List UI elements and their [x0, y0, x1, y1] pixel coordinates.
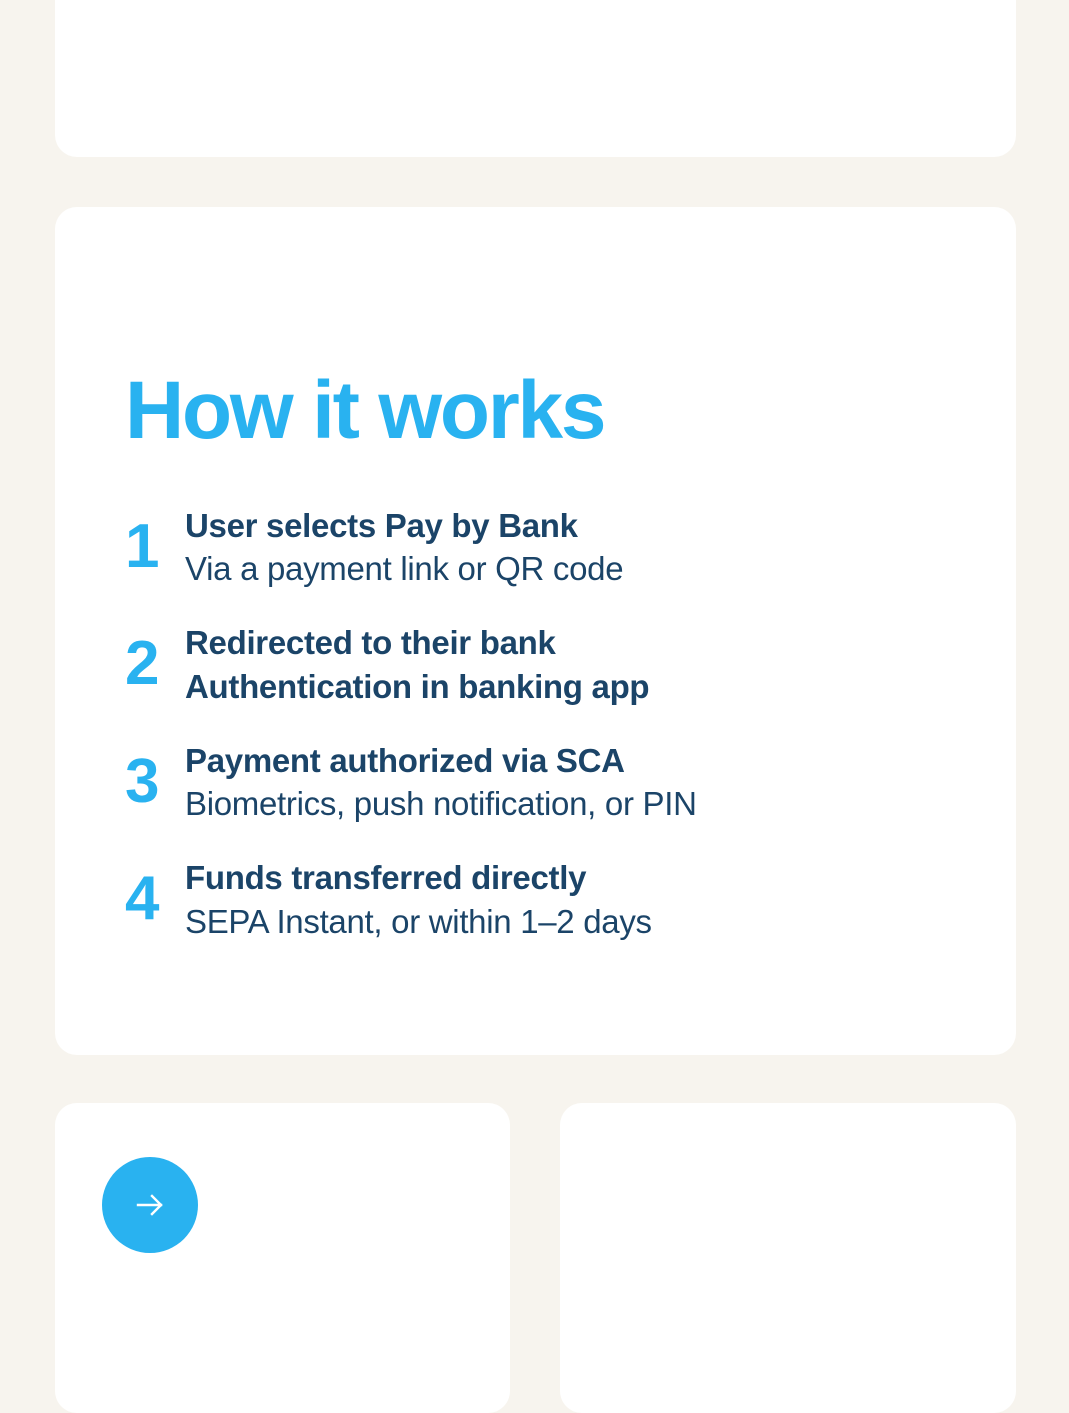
page-stage: How it works 1 User selects Pay by Bank …	[0, 0, 1069, 1350]
card-bottom-right	[560, 1103, 1016, 1413]
list-item: 3 Payment authorized via SCA Biometrics,…	[125, 737, 976, 827]
step-number: 4	[125, 854, 185, 930]
arrow-right-icon	[128, 1183, 172, 1227]
step-title: Funds transferred directly	[185, 856, 976, 900]
step-title: Payment authorized via SCA	[185, 739, 976, 783]
step-text-block: Funds transferred directly SEPA Instant,…	[185, 854, 976, 944]
step-subtitle: Via a payment link or QR code	[185, 547, 976, 592]
step-number: 2	[125, 619, 185, 695]
step-text-block: Payment authorized via SCA Biometrics, p…	[185, 737, 976, 827]
steps-list: 1 User selects Pay by Bank Via a payment…	[125, 502, 976, 945]
card-bottom-left	[55, 1103, 510, 1413]
step-subtitle: Biometrics, push notification, or PIN	[185, 782, 976, 827]
list-item: 2 Redirected to their bank Authenticatio…	[125, 619, 976, 709]
step-text-block: Redirected to their bank Authentication …	[185, 619, 976, 709]
card-top-partial	[55, 0, 1016, 157]
step-title: User selects Pay by Bank	[185, 504, 976, 548]
list-item: 1 User selects Pay by Bank Via a payment…	[125, 502, 976, 592]
page-title: How it works	[125, 372, 976, 450]
card-how-it-works: How it works 1 User selects Pay by Bank …	[55, 207, 1016, 1055]
step-subtitle: SEPA Instant, or within 1–2 days	[185, 900, 976, 945]
step-text-block: User selects Pay by Bank Via a payment l…	[185, 502, 976, 592]
next-button[interactable]	[102, 1157, 198, 1253]
step-number: 3	[125, 737, 185, 813]
step-title: Redirected to their bank	[185, 621, 976, 665]
list-item: 4 Funds transferred directly SEPA Instan…	[125, 854, 976, 944]
how-it-works-content: How it works 1 User selects Pay by Bank …	[125, 372, 976, 945]
step-subtitle: Authentication in banking app	[185, 665, 976, 710]
step-number: 1	[125, 502, 185, 578]
